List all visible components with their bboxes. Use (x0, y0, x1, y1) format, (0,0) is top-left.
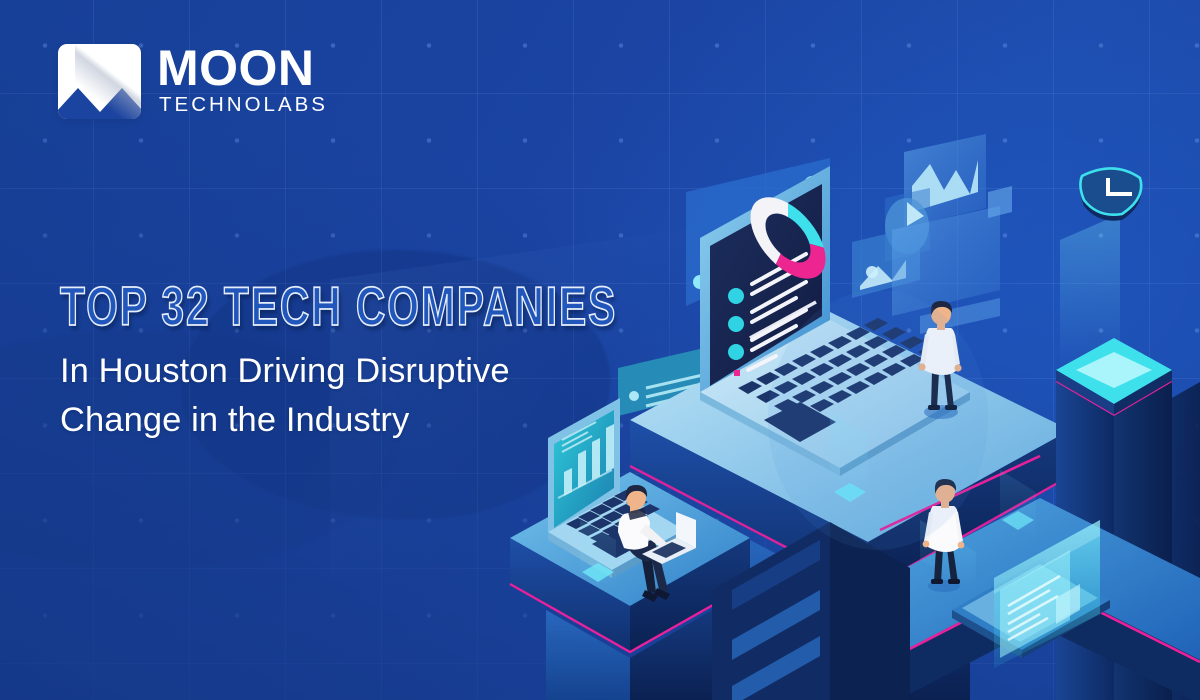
moon-mountain-mark-icon (58, 44, 141, 119)
blog-banner: MOON TECHNOLABS TOP 32 TECH COMPANIES In… (0, 0, 1200, 700)
brand-name: MOON (157, 45, 328, 92)
brand-tagline: TECHNOLABS (157, 92, 328, 119)
isometric-tech-illustration (500, 120, 1200, 700)
brand-logo[interactable]: MOON TECHNOLABS (58, 44, 328, 119)
shield-clock-badge (1080, 168, 1141, 220)
page-subtitle: In Houston Driving Disruptive Change in … (60, 347, 510, 446)
